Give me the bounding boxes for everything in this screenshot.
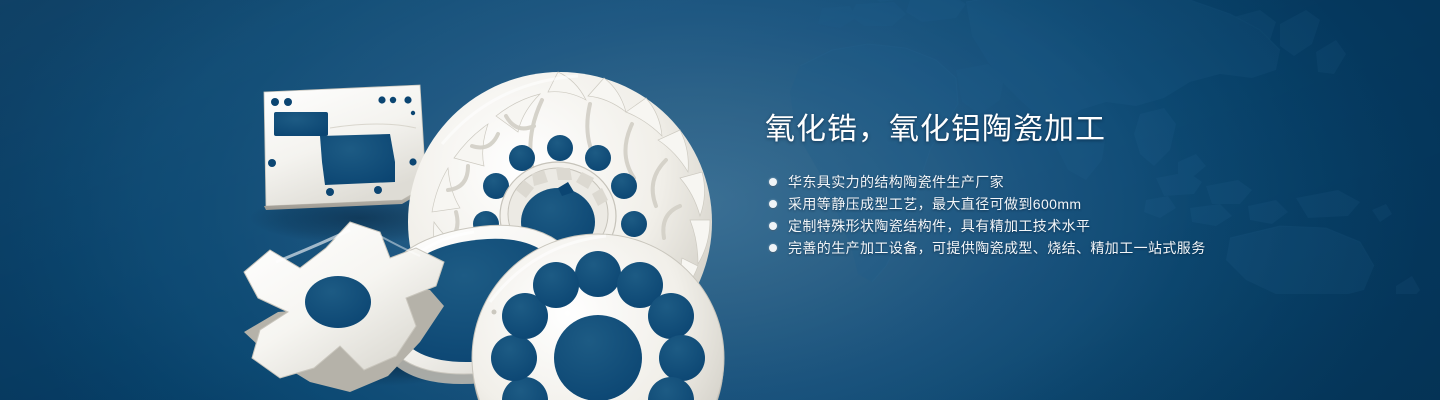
feature-list: 华东具实力的结构陶瓷件生产厂家 采用等静压成型工艺，最大直径可做到600mm 定…	[769, 171, 1385, 258]
bullet-dot-icon	[769, 244, 777, 252]
list-item: 定制特殊形状陶瓷结构件，具有精加工技术水平	[769, 215, 1385, 236]
bullet-dot-icon	[769, 222, 777, 230]
list-item-label: 定制特殊形状陶瓷结构件，具有精加工技术水平	[788, 216, 1090, 236]
list-item-label: 完善的生产加工设备，可提供陶瓷成型、烧结、精加工一站式服务	[788, 238, 1206, 258]
page-title: 氧化锆，氧化铝陶瓷加工	[765, 110, 1385, 150]
list-item-label: 采用等静压成型工艺，最大直径可做到600mm	[788, 194, 1081, 214]
list-item: 完善的生产加工设备，可提供陶瓷成型、烧结、精加工一站式服务	[769, 237, 1385, 258]
list-item-label: 华东具实力的结构陶瓷件生产厂家	[788, 172, 1004, 192]
banner-copy: 氧化锆，氧化铝陶瓷加工 华东具实力的结构陶瓷件生产厂家 采用等静压成型工艺，最大…	[765, 110, 1385, 259]
bullet-dot-icon	[769, 200, 777, 208]
list-item: 华东具实力的结构陶瓷件生产厂家	[769, 171, 1385, 192]
list-item: 采用等静压成型工艺，最大直径可做到600mm	[769, 193, 1385, 214]
hero-banner: 氧化锆，氧化铝陶瓷加工 华东具实力的结构陶瓷件生产厂家 采用等静压成型工艺，最大…	[0, 0, 1440, 400]
bullet-dot-icon	[769, 178, 777, 186]
ceramic-flat-plate-shape	[264, 85, 426, 210]
product-photo-group	[230, 40, 710, 390]
